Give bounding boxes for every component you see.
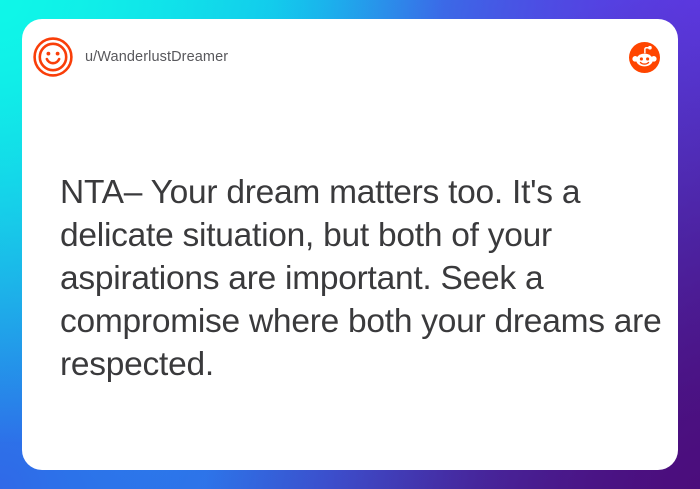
- card-header: u/WanderlustDreamer: [22, 19, 678, 95]
- reddit-snoo-logo-icon[interactable]: [629, 42, 660, 73]
- comment-body-text: NTA– Your dream matters too. It's a deli…: [60, 171, 675, 386]
- screenshot-root: u/WanderlustDreamer: [0, 0, 700, 489]
- reddit-comment-card: u/WanderlustDreamer: [22, 19, 678, 470]
- author-name: u/WanderlustDreamer: [85, 49, 228, 65]
- author-info[interactable]: u/WanderlustDreamer: [33, 37, 629, 77]
- smiley-face-avatar-icon[interactable]: [33, 37, 73, 77]
